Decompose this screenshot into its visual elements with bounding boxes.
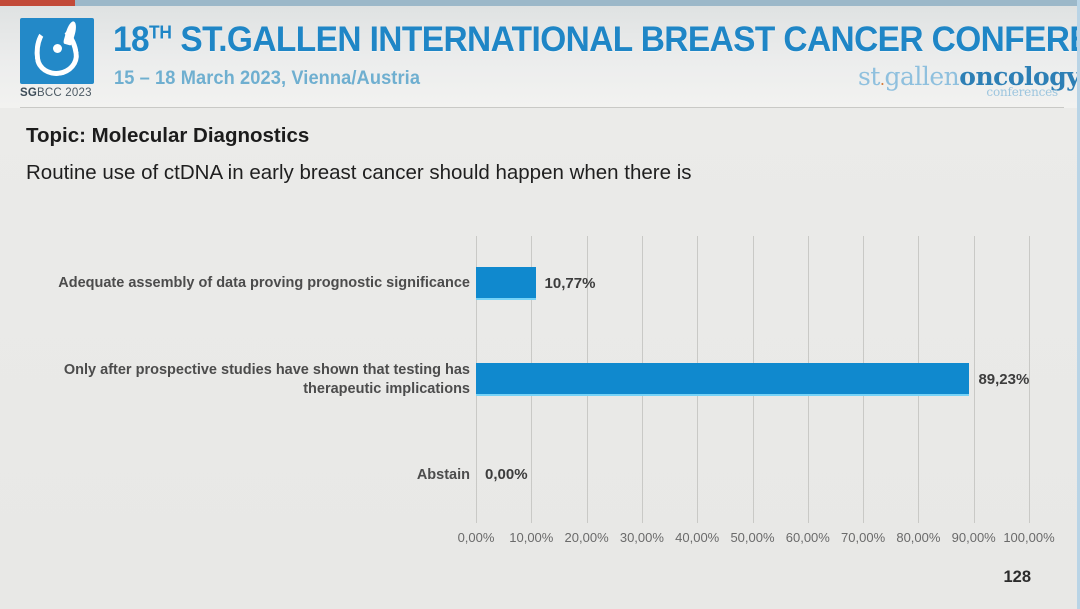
- conference-title-main: ST.GALLEN INTERNATIONAL BREAST CANCER CO…: [172, 20, 1080, 59]
- voting-results-bar-chart: 10,77%Adequate assembly of data proving …: [0, 236, 1080, 556]
- conference-dates: 15 – 18 March 2023, Vienna/Austria: [114, 68, 420, 90]
- page-number: 128: [1003, 568, 1031, 587]
- conference-title-ordinal-suffix: TH: [149, 22, 172, 42]
- sgbcc-logo-caption: SGBCC 2023: [20, 87, 106, 99]
- chart-category-label: Adequate assembly of data proving progno…: [14, 274, 470, 293]
- chart-bar-value-label: 89,23%: [978, 371, 1029, 388]
- chart-bar-value-label: 10,77%: [545, 275, 596, 292]
- sgbcc-logo-caption-bold: SG: [20, 87, 37, 99]
- presentation-slide: SGBCC 2023 18TH ST.GALLEN INTERNATIONAL …: [0, 0, 1080, 609]
- brand-st: st: [858, 62, 880, 91]
- chart-category-line: Only after prospective studies have show…: [64, 362, 470, 378]
- conference-title-ordinal: 18: [113, 20, 149, 59]
- chart-x-axis-tick: 100,00%: [994, 530, 1064, 545]
- slide-topic: Topic: Molecular Diagnostics: [26, 124, 309, 148]
- slide-question: Routine use of ctDNA in early breast can…: [26, 161, 692, 185]
- chart-bar-value-label: 0,00%: [485, 466, 528, 483]
- chart-category-label: Only after prospective studies have show…: [14, 361, 470, 399]
- sgbcc-logo: SGBCC 2023: [14, 18, 106, 106]
- conference-title: 18TH ST.GALLEN INTERNATIONAL BREAST CANC…: [113, 20, 1020, 60]
- chart-category-line: therapeutic implications: [303, 381, 470, 397]
- sgbcc-logo-mark: [20, 18, 94, 84]
- chart-bar: [476, 267, 536, 300]
- brand-conferences: conferences: [986, 85, 1058, 99]
- chart-gridline: [974, 236, 975, 523]
- chart-category-line: Adequate assembly of data proving progno…: [58, 275, 470, 291]
- header-divider: [20, 107, 1064, 108]
- chart-category-line: Abstain: [417, 467, 470, 483]
- brand-gallen: gallen: [884, 62, 959, 91]
- droplet-dot-icon: [53, 44, 62, 53]
- chart-bar: [476, 363, 969, 396]
- conference-header: SGBCC 2023 18TH ST.GALLEN INTERNATIONAL …: [0, 6, 1080, 108]
- st-gallen-oncology-logo: st.gallenoncology conferences: [858, 64, 1058, 104]
- sgbcc-logo-caption-rest: BCC 2023: [37, 87, 92, 99]
- chart-category-label: Abstain: [14, 466, 470, 485]
